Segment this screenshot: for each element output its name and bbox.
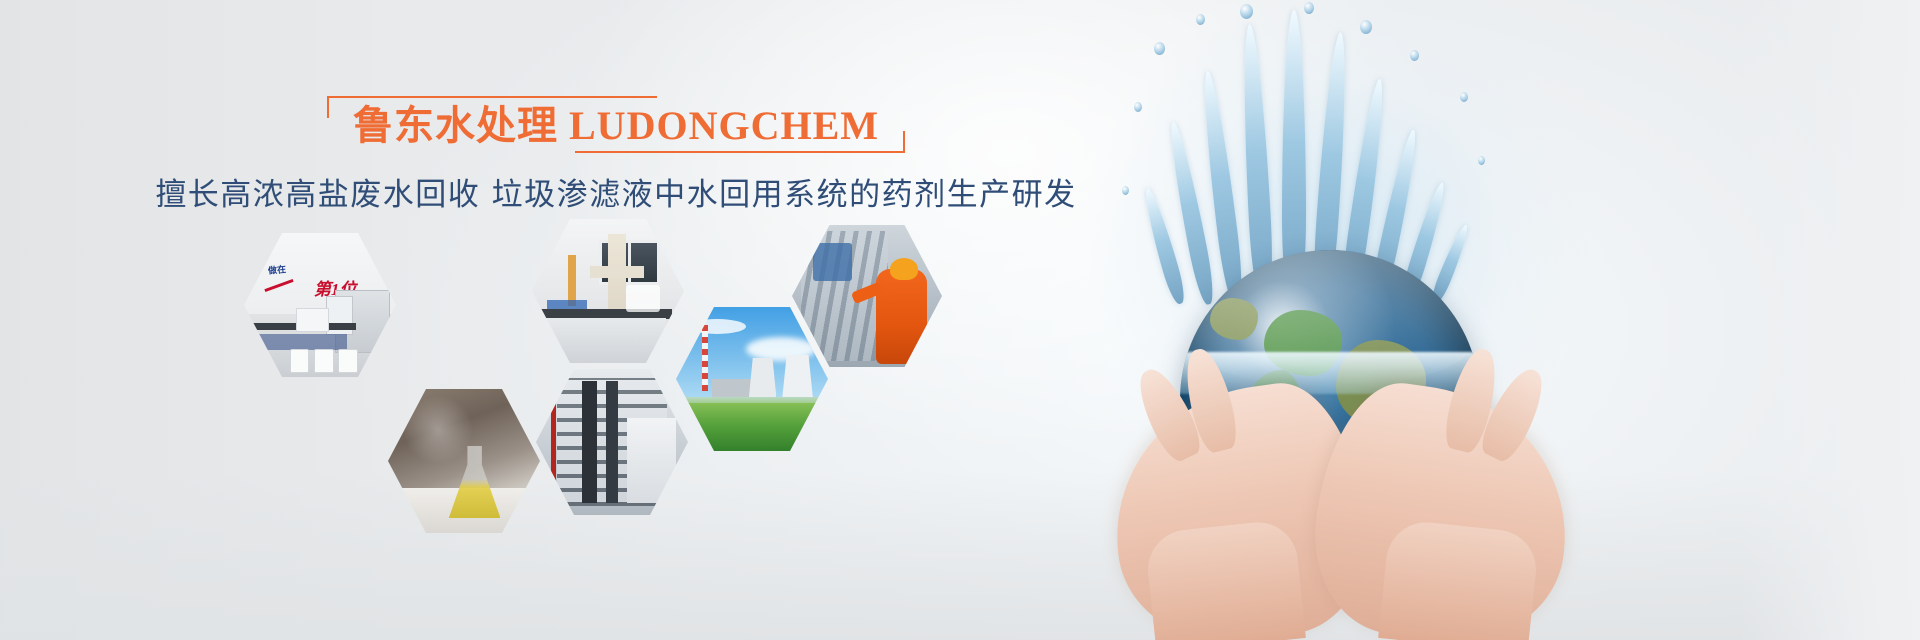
hexagon-photo-cluster: 做在 第1位 bbox=[236, 216, 956, 526]
cloud bbox=[688, 319, 746, 334]
lab-instrument bbox=[296, 308, 329, 332]
membrane-column bbox=[582, 381, 597, 503]
glassware bbox=[626, 285, 659, 312]
cooling-tower bbox=[749, 358, 776, 397]
water-droplet bbox=[1478, 156, 1485, 165]
membrane-column bbox=[606, 381, 618, 503]
water-droplet bbox=[1154, 42, 1165, 55]
control-panel bbox=[627, 418, 676, 503]
left-wrist bbox=[1144, 518, 1306, 640]
red-pipe bbox=[551, 399, 556, 493]
bracket-top-left-icon bbox=[327, 96, 657, 118]
window-light bbox=[403, 395, 473, 464]
water-splash-globe-artwork bbox=[1030, 0, 1650, 640]
water-droplet bbox=[1122, 186, 1129, 195]
hex-tile-power-plant[interactable] bbox=[676, 304, 828, 454]
brand-title-wrapper: 鲁东水处理 LUDONGCHEM bbox=[327, 96, 905, 153]
blue-tank bbox=[813, 243, 852, 281]
lab-drum bbox=[314, 349, 334, 373]
safety-helmet-icon bbox=[890, 258, 919, 280]
water-droplet bbox=[1196, 14, 1205, 25]
hex-tile-flask[interactable] bbox=[388, 386, 540, 536]
green-field bbox=[676, 403, 828, 454]
bracket-bottom-right-icon bbox=[575, 131, 905, 153]
water-droplet bbox=[1460, 92, 1468, 102]
water-droplet bbox=[1240, 4, 1253, 19]
water-droplet bbox=[1360, 20, 1372, 34]
lab-stand bbox=[568, 255, 576, 306]
cupped-hands bbox=[1104, 330, 1574, 640]
right-wrist bbox=[1378, 518, 1540, 640]
lab-cabinet bbox=[544, 318, 666, 363]
right-edge-fade bbox=[1740, 0, 1920, 640]
lab-drum bbox=[290, 349, 310, 373]
fume-hood-arm bbox=[590, 266, 645, 278]
worker-body bbox=[876, 269, 927, 364]
water-droplet bbox=[1134, 102, 1142, 112]
hero-banner: 鲁东水处理 LUDONGCHEM 擅长高浓高盐废水回收 垃圾渗滤液中水回用系统的… bbox=[0, 0, 1920, 640]
water-droplet bbox=[1304, 2, 1314, 14]
hex-tile-lab-room[interactable]: 做在 第1位 bbox=[244, 230, 396, 380]
lab-drum bbox=[338, 349, 358, 373]
hex-tile-worker-valves[interactable] bbox=[792, 222, 942, 370]
window-mullion bbox=[628, 240, 631, 285]
cooling-tower bbox=[782, 355, 812, 397]
hex-tile-lab-fumehood[interactable] bbox=[532, 216, 684, 366]
wall-slogan-text: 做在 bbox=[268, 262, 287, 277]
water-droplet bbox=[1410, 50, 1419, 61]
hex-tile-membrane-skid[interactable] bbox=[536, 366, 688, 518]
chimney-stack bbox=[702, 325, 708, 391]
lab-bench-base bbox=[253, 334, 347, 350]
